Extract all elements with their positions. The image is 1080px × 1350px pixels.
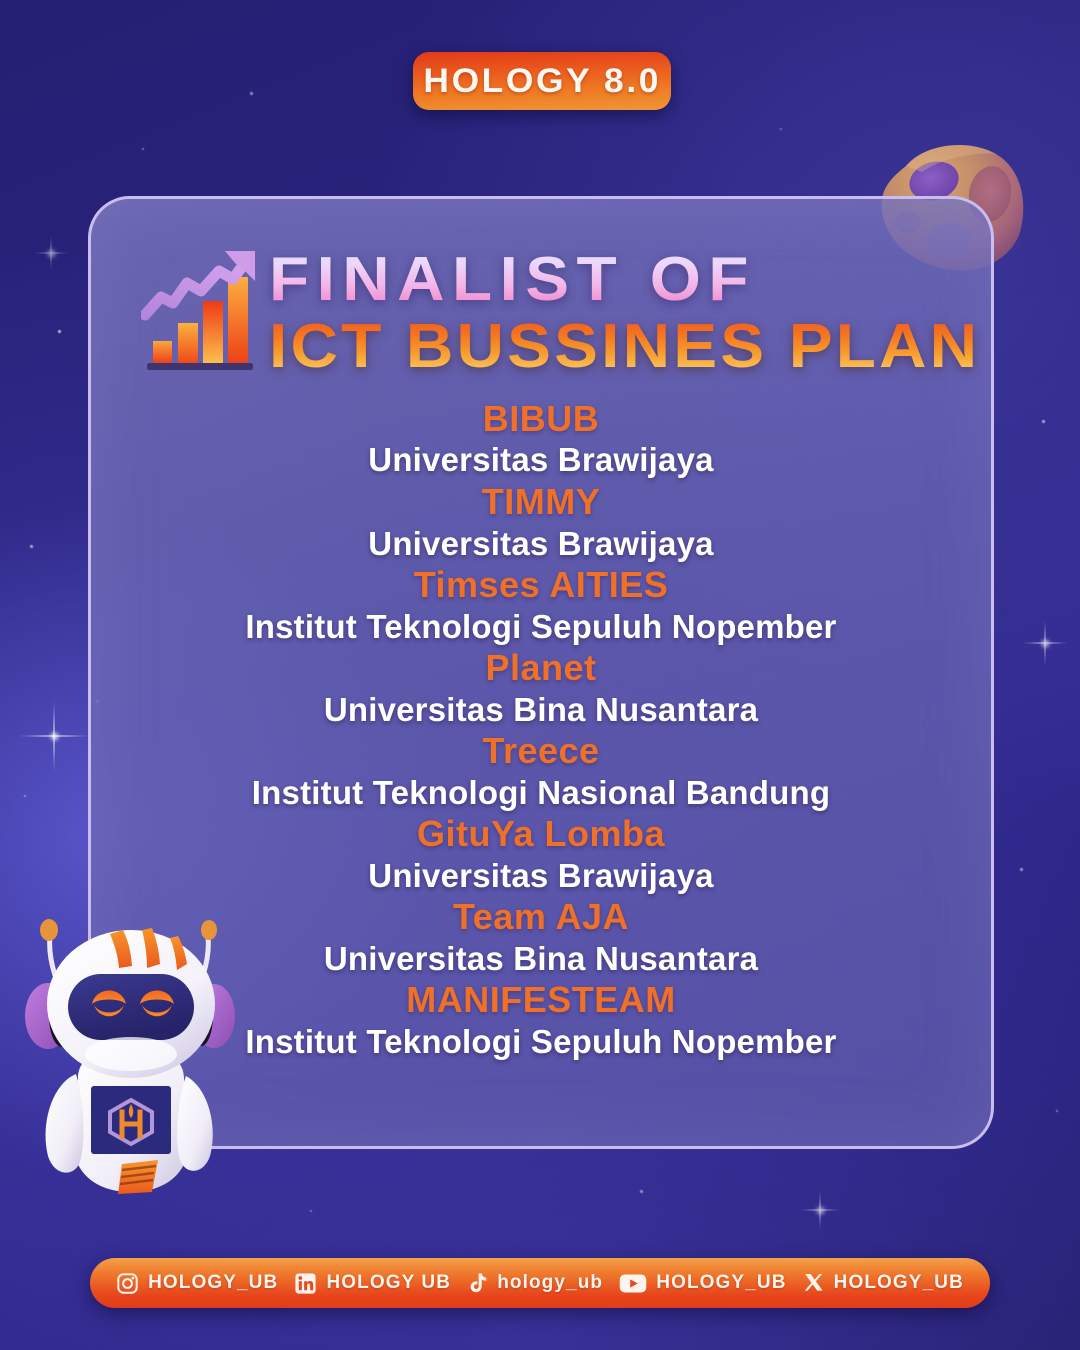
star: [1056, 1110, 1058, 1112]
social-link-x[interactable]: HOLOGY_UB: [803, 1272, 964, 1294]
hology-badge-label: HOLOGY 8.0: [423, 62, 661, 101]
star: [1020, 868, 1023, 871]
star: [58, 330, 61, 333]
star: [142, 148, 144, 150]
social-link-tiktok[interactable]: hology_ub: [467, 1272, 603, 1295]
youtube-icon: [619, 1273, 647, 1294]
social-handle: HOLOGY_UB: [148, 1272, 278, 1294]
social-handle: HOLOGY UB: [326, 1272, 451, 1294]
instagram-icon: [116, 1272, 139, 1295]
social-link-instagram[interactable]: HOLOGY_UB: [116, 1272, 278, 1295]
sparkle-star: [18, 700, 90, 772]
social-handle: hology_ub: [497, 1272, 603, 1294]
hology-badge[interactable]: HOLOGY 8.0: [413, 52, 671, 110]
social-handle: HOLOGY_UB: [656, 1272, 786, 1294]
social-footer-bar: HOLOGY_UB HOLOGY UB hology_ub HOLOGY_UB …: [90, 1258, 990, 1308]
sparkle-star: [800, 1190, 840, 1230]
tiktok-icon: [467, 1272, 488, 1295]
star: [30, 545, 33, 548]
sparkle-star: [34, 236, 68, 270]
star: [310, 1210, 312, 1212]
linkedin-icon: [294, 1272, 317, 1295]
social-link-linkedin[interactable]: HOLOGY UB: [294, 1272, 451, 1295]
star: [250, 92, 253, 95]
star: [780, 128, 782, 130]
social-handle: HOLOGY_UB: [834, 1272, 964, 1294]
star: [640, 1190, 643, 1193]
star: [24, 795, 26, 797]
star: [1042, 420, 1045, 423]
x-twitter-icon: [803, 1272, 825, 1294]
social-link-youtube[interactable]: HOLOGY_UB: [619, 1272, 786, 1294]
sparkle-star: [1022, 620, 1068, 666]
robot-mascot-icon: [18, 878, 243, 1208]
